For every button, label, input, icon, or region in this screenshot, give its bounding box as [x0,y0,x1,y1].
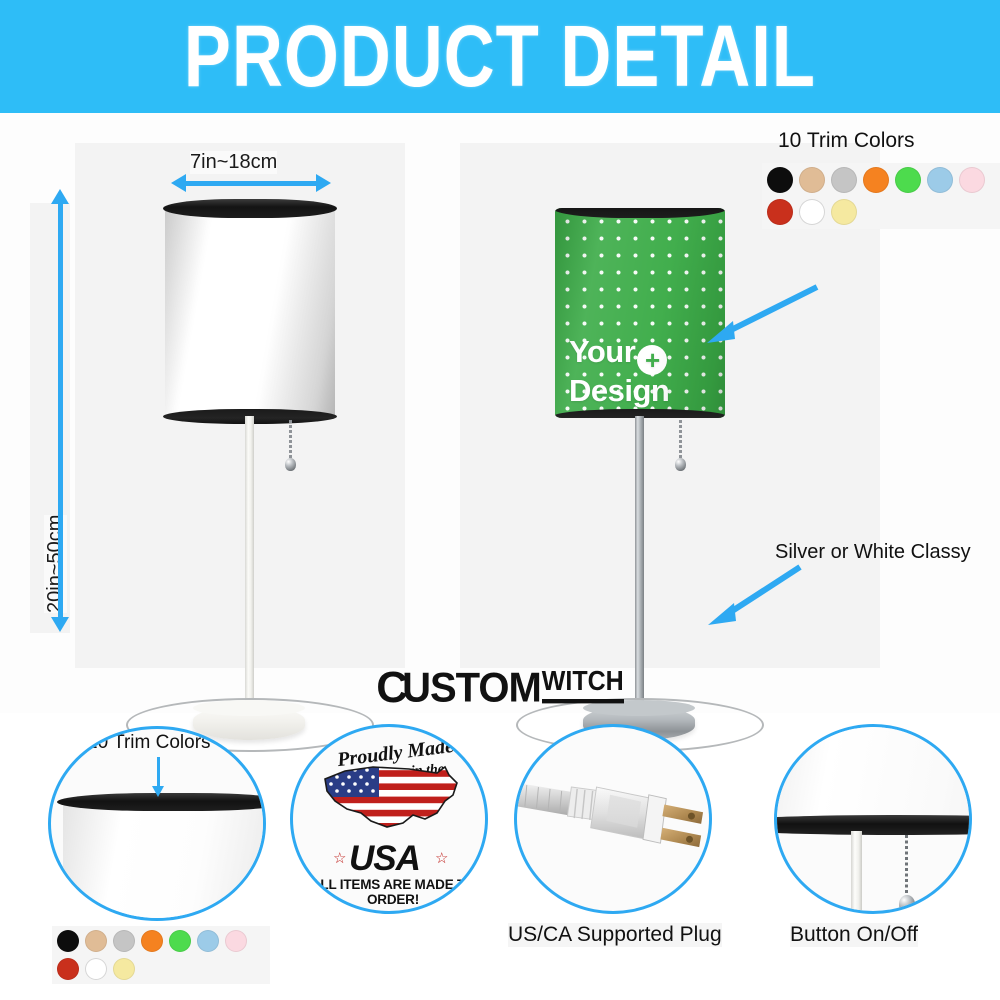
logo-primary-text: USTOM [402,664,541,711]
feature-circle-switch [774,724,972,914]
feature-plug-caption: US/CA Supported Plug [508,923,722,947]
usa-map-flag-icon [317,757,465,837]
feature-plug: US/CA Supported Plug [508,718,748,1000]
add-design-plus-icon: + [637,345,667,375]
trim-swatch-red[interactable] [767,199,793,225]
pull-chain [679,420,682,462]
feature-made-in-usa: Proudly Made in the [288,718,503,1000]
usa-star-right-icon: ☆ [435,849,448,867]
trim-swatch-orange[interactable] [141,930,163,952]
trim-swatch-tan[interactable] [799,167,825,193]
feature-row: 10 Trim Colors Proudly Made in the [0,718,1000,1000]
trim-swatch-pink[interactable] [959,167,985,193]
usa-star-left-icon: ☆ [333,849,346,867]
trim-swatch-pink[interactable] [225,930,247,952]
trim-swatch-white[interactable] [85,958,107,980]
trim-swatch-black[interactable] [767,167,793,193]
trim-swatch-light-blue[interactable] [197,930,219,952]
switch-detail-trim [774,815,972,835]
base-finish-arrow [700,553,810,633]
width-dimension-label: 7in~18cm [190,151,277,174]
trim-colors-title: 10 Trim Colors [778,129,915,153]
design-line-2: Design [569,373,669,408]
trim-color-swatches[interactable] [762,163,1000,229]
feature-circle-usa: Proudly Made in the [290,724,488,914]
feature-trim-colors: 10 Trim Colors [40,718,270,1000]
trim-color-swatches-bottom[interactable] [52,926,270,984]
height-dimension-arrow [58,203,63,618]
trim-detail-shade [63,801,266,921]
shade-shading [165,208,335,418]
trim-swatch-yellow[interactable] [831,199,857,225]
switch-detail-pole [851,831,862,914]
trim-swatch-yellow[interactable] [113,958,135,980]
usa-badge: Proudly Made in the [293,727,485,911]
power-plug-icon [517,727,709,911]
usa-country-text: USA [349,839,420,879]
pull-chain-ball [285,458,296,471]
your-design-text: Your+ Design [569,336,669,407]
trim-pointer-arrow [157,757,160,787]
usa-subtitle-text: ALL ITEMS ARE MADE TO ORDER! [303,877,483,907]
trim-swatch-gray[interactable] [113,930,135,952]
trim-swatch-red[interactable] [57,958,79,980]
trim-swatch-black[interactable] [57,930,79,952]
trim-swatch-white[interactable] [799,199,825,225]
pull-chain [289,420,292,462]
switch-pull-chain-ball[interactable] [899,895,915,913]
switch-detail-shade [774,724,972,823]
height-dimension-label: 20in~50cm [44,515,67,613]
width-dimension-arrow [185,181,317,186]
trim-swatch-gray[interactable] [831,167,857,193]
lampshade-blank [165,208,335,418]
brand-logo: C USTOM WITCH [0,663,1000,713]
feature-trim-title: 10 Trim Colors [87,732,211,754]
trim-swatch-light-blue[interactable] [927,167,953,193]
trim-callout-arrow [695,281,825,353]
feature-switch: Button On/Off [768,718,1000,1000]
logo-secondary-text: WITCH [542,666,624,703]
trim-swatch-green[interactable] [895,167,921,193]
trim-swatch-orange[interactable] [863,167,889,193]
feature-circle-trim: 10 Trim Colors [48,726,266,921]
pull-chain-ball [675,458,686,471]
feature-switch-caption: Button On/Off [790,923,918,947]
header-banner: PRODUCT DETAIL [0,0,1000,113]
page-title: PRODUCT DETAIL [184,6,816,106]
trim-band-top [163,199,337,218]
trim-swatch-tan[interactable] [85,930,107,952]
trim-swatch-green[interactable] [169,930,191,952]
product-stage: 7in~18cm 20in~50cm Your+ Design [0,113,1000,713]
design-line-1: Your [569,334,635,369]
switch-pull-chain [905,835,908,897]
feature-circle-plug [514,724,712,914]
